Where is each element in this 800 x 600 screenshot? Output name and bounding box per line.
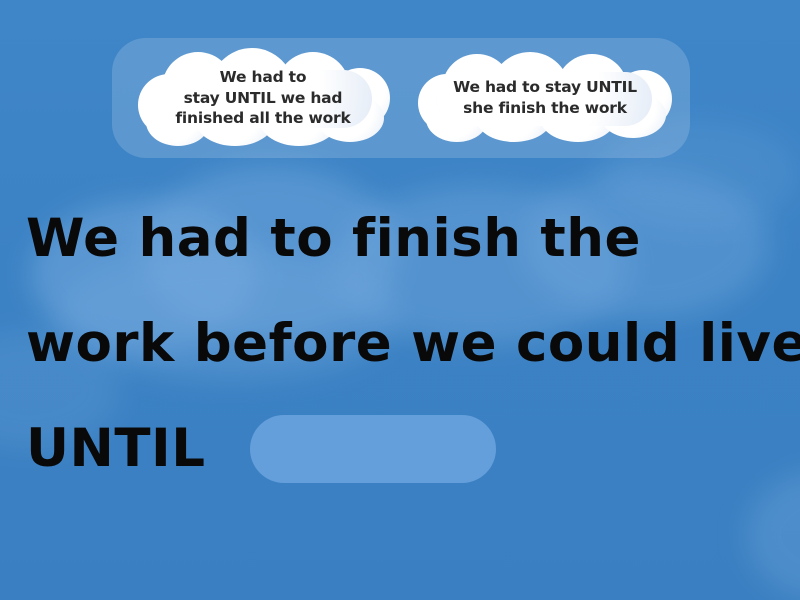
- sentence-line-1: We had to finish the: [26, 186, 786, 291]
- answer-option-label: We had to stay UNTIL she finish the work: [447, 77, 643, 119]
- answer-option-cloud[interactable]: We had to stay UNTIL she finish the work: [416, 52, 674, 144]
- answer-option-cloud[interactable]: We had to stay UNTIL we had finished all…: [134, 48, 392, 148]
- sentence-line-3: UNTIL: [26, 396, 786, 501]
- sentence-line-2: work before we could live: [26, 291, 786, 396]
- sentence-line-3-text: UNTIL: [26, 396, 206, 501]
- sentence-prompt: We had to finish the work before we coul…: [26, 186, 786, 501]
- answer-dropzone[interactable]: [250, 415, 496, 483]
- answer-option-label: We had to stay UNTIL we had finished all…: [169, 67, 356, 129]
- activity-stage: We had to stay UNTIL we had finished all…: [0, 0, 800, 600]
